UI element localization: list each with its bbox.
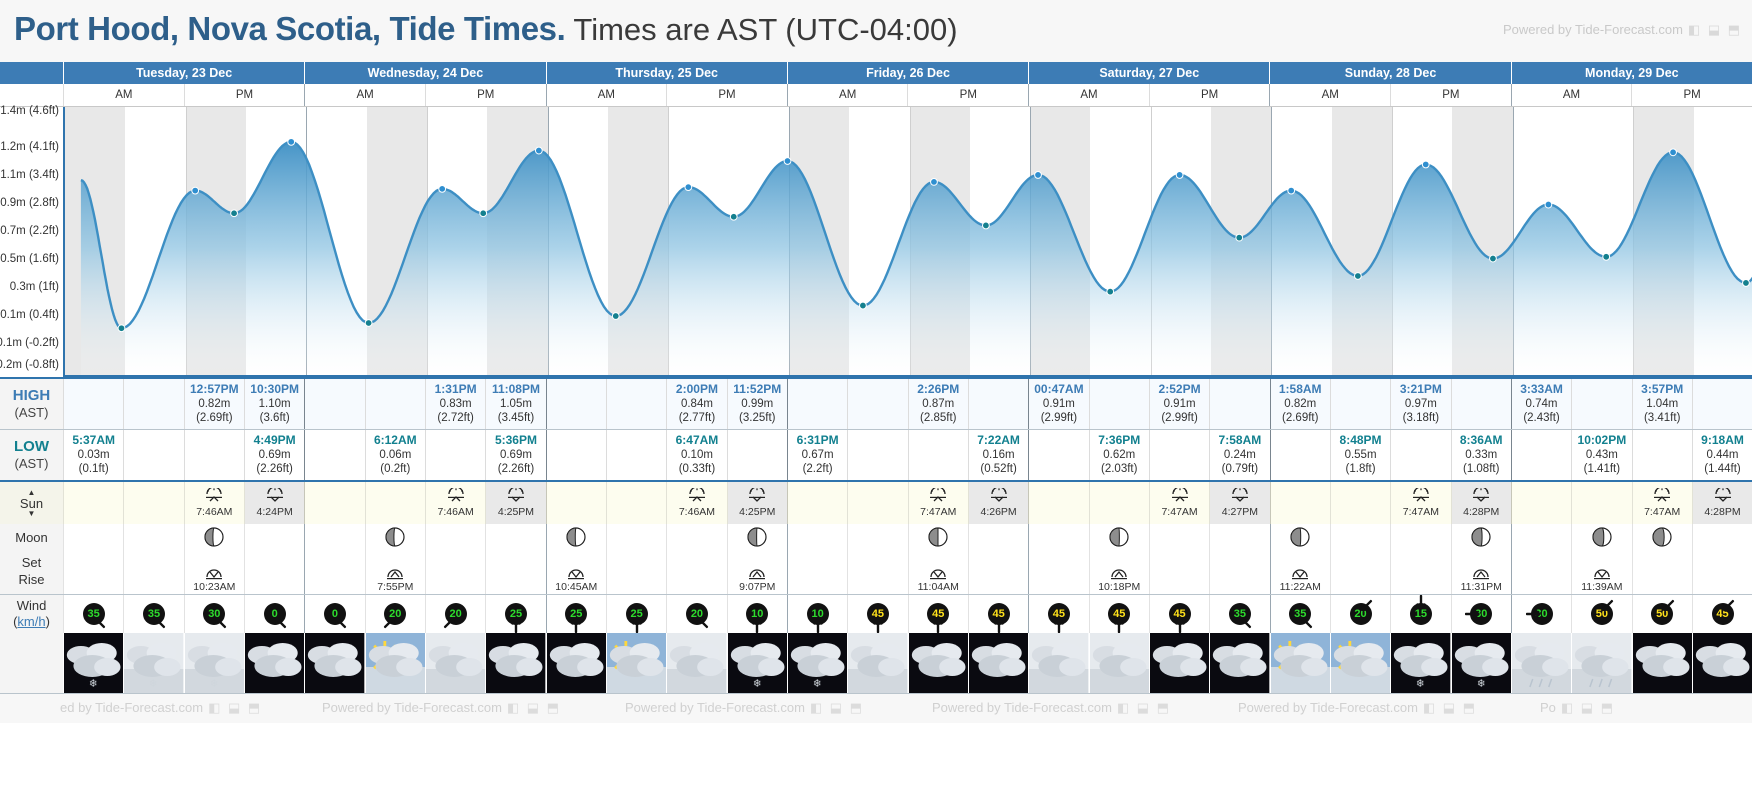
weather-icon-cell-9[interactable] xyxy=(606,633,666,693)
tide-extreme-point-low-12[interactable] xyxy=(860,302,867,309)
ampm-header-row: AMPMAMPMAMPMAMPMAMPMAMPMAMPM xyxy=(0,84,1752,107)
wind-cell-5[interactable]: 20 xyxy=(365,595,425,633)
high-tide-time: 1:58AM xyxy=(1271,382,1330,397)
low-tide-cell-23[interactable]: 8:36AM0.33m(1.08ft) xyxy=(1451,430,1511,480)
sun-rise-time: 7:47AM xyxy=(1644,506,1680,518)
high-tide-cell-16[interactable]: 00:47AM0.91m(2.99ft) xyxy=(1028,379,1088,429)
tide-extreme-point-high-23[interactable] xyxy=(1545,201,1552,208)
moon-setrise-cell-19 xyxy=(1209,550,1269,594)
moon-cell-5[interactable] xyxy=(365,524,425,550)
moon-cell-27 xyxy=(1692,524,1752,550)
low-tide-cell-14 xyxy=(908,430,968,480)
moon-cell-16 xyxy=(1028,524,1088,550)
weather-icon-cell-1[interactable]: ❄ xyxy=(123,633,183,693)
sun-cell-3[interactable]: 4:24PM xyxy=(244,482,304,524)
high-tide-unit: (AST) xyxy=(15,405,49,421)
high-tide-feet: (3.6ft) xyxy=(245,411,304,425)
high-tide-cell-27 xyxy=(1692,379,1752,429)
tide-sheet: Tuesday, 23 DecWednesday, 24 DecThursday… xyxy=(0,62,1752,723)
moon-phase-icon xyxy=(1109,527,1129,547)
tide-extreme-point-high-9[interactable] xyxy=(685,184,692,191)
high-tide-cell-22[interactable]: 3:21PM0.97m(3.18ft) xyxy=(1390,379,1450,429)
moon-rise-time: 10:18PM xyxy=(1098,581,1140,593)
high-tide-cell-17 xyxy=(1089,379,1149,429)
high-tide-cell-26[interactable]: 3:57PM1.04m(3.41ft) xyxy=(1632,379,1692,429)
sun-rise-icon xyxy=(1652,488,1672,506)
tide-extreme-point-high-5[interactable] xyxy=(439,185,446,192)
low-tide-time: 4:49PM xyxy=(245,433,304,448)
low-tide-cell-10[interactable]: 6:47AM0.10m(0.33ft) xyxy=(666,430,726,480)
wind-cell-17[interactable]: 45 xyxy=(1089,595,1149,633)
wind-cell-23[interactable]: 30 xyxy=(1451,595,1511,633)
high-tide-cell-7[interactable]: 11:08PM1.05m(3.45ft) xyxy=(485,379,545,429)
tide-extreme-point-low-4[interactable] xyxy=(365,320,372,327)
weather-icon-cell-25[interactable] xyxy=(1571,633,1631,693)
wind-cell-25[interactable]: 50 xyxy=(1571,595,1631,633)
weather-icon-cell-5[interactable] xyxy=(365,633,425,693)
low-tide-cell-6 xyxy=(425,430,485,480)
footer-marks-icon: ◧ ⬓ ⬒ xyxy=(1117,700,1171,715)
low-tide-label: LOW (AST) xyxy=(0,430,63,480)
low-tide-cell-7[interactable]: 5:36PM0.69m(2.26ft) xyxy=(485,430,545,480)
tide-extreme-point-low-0[interactable] xyxy=(118,325,125,332)
wind-cell-9[interactable]: 25 xyxy=(606,595,666,633)
tide-extreme-point-high-7[interactable] xyxy=(535,147,542,154)
low-tide-cell-20 xyxy=(1270,430,1330,480)
sun-cell-26[interactable]: 7:47AM xyxy=(1632,482,1692,524)
moon-cell-22 xyxy=(1390,524,1450,550)
tide-extreme-point-low-2[interactable] xyxy=(231,210,238,217)
moon-cell-26[interactable] xyxy=(1632,524,1692,550)
wind-direction-arrow-icon xyxy=(1526,606,1542,622)
high-tide-feet: (2.99ft) xyxy=(1150,411,1209,425)
sun-label-text: Sun xyxy=(20,497,43,510)
weather-icon-cell-11[interactable]: ❄ xyxy=(727,633,787,693)
wind-cell-15[interactable]: 45 xyxy=(968,595,1028,633)
low-tide-meters: 0.69m xyxy=(245,448,304,462)
wind-cell-0[interactable]: 35 xyxy=(63,595,123,633)
weather-icon-cell-17[interactable] xyxy=(1089,633,1149,693)
weather-icon-cell-21[interactable] xyxy=(1330,633,1390,693)
day-header-6[interactable]: Monday, 29 Dec xyxy=(1511,62,1752,84)
high-tide-cell-23 xyxy=(1451,379,1511,429)
low-tide-feet: (1.44ft) xyxy=(1693,462,1752,476)
moon-setrise-cell-11[interactable]: 9:07PM xyxy=(727,550,787,594)
high-tide-cell-14[interactable]: 2:26PM0.87m(2.85ft) xyxy=(908,379,968,429)
wind-cell-14[interactable]: 45 xyxy=(908,595,968,633)
moon-setrise-cell-16 xyxy=(1028,550,1088,594)
low-tide-cell-2 xyxy=(184,430,244,480)
low-tide-cell-15[interactable]: 7:22AM0.16m(0.52ft) xyxy=(968,430,1028,480)
moon-set-icon xyxy=(204,566,224,581)
wind-cell-21[interactable]: 20 xyxy=(1330,595,1390,633)
sun-cell-27[interactable]: 4:28PM xyxy=(1692,482,1752,524)
high-tide-meters: 0.82m xyxy=(1271,397,1330,411)
high-tide-cell-24[interactable]: 3:33AM0.74m(2.43ft) xyxy=(1511,379,1571,429)
weather-icon-cell-3[interactable] xyxy=(244,633,304,693)
sun-cell-4 xyxy=(304,482,364,524)
wind-cell-27[interactable]: 45 xyxy=(1692,595,1752,633)
moon-setrise-cell-13 xyxy=(847,550,907,594)
wind-direction-arrow-icon xyxy=(991,617,1007,633)
high-tide-cell-6[interactable]: 1:31PM0.83m(2.72ft) xyxy=(425,379,485,429)
footer-marks-icon: ◧ ⬓ ⬒ xyxy=(1561,700,1615,715)
moon-setrise-cell-23[interactable]: 11:31PM xyxy=(1451,550,1511,594)
tide-extreme-point-low-18[interactable] xyxy=(1236,234,1243,241)
day-header-0[interactable]: Tuesday, 23 Dec xyxy=(63,62,304,84)
day-header-5[interactable]: Sunday, 28 Dec xyxy=(1269,62,1510,84)
ampm-header-4: AM xyxy=(546,84,667,106)
sun-cell-22[interactable]: 7:47AM xyxy=(1390,482,1450,524)
low-tide-cell-5[interactable]: 6:12AM0.06m(0.2ft) xyxy=(365,430,425,480)
day-header-3[interactable]: Friday, 26 Dec xyxy=(787,62,1028,84)
weather-cloudy-snow-icon: ❄ xyxy=(185,633,244,693)
low-tide-cell-25[interactable]: 10:02PM0.43m(1.41ft) xyxy=(1571,430,1631,480)
weather-icon-cell-26[interactable] xyxy=(1632,633,1692,693)
low-tide-meters: 0.55m xyxy=(1331,448,1390,462)
high-tide-time: 1:31PM xyxy=(426,382,485,397)
footer-watermark-4: Powered by Tide-Forecast.com◧ ⬓ ⬒ xyxy=(1238,700,1477,716)
footer-marks-icon: ◧ ⬓ ⬒ xyxy=(810,700,864,715)
tide-extreme-point-low-6[interactable] xyxy=(480,210,487,217)
wind-unit: (km/h) xyxy=(13,614,50,630)
weather-cloudy-icon xyxy=(909,633,968,693)
weather-cloudy-snow-icon: ❄ xyxy=(124,633,183,693)
sun-cell-1 xyxy=(123,482,183,524)
weather-cloudy-rain-icon xyxy=(1572,633,1631,693)
high-tide-cell-1 xyxy=(123,379,183,429)
moon-setrise-cell-5[interactable]: 7:55PM xyxy=(365,550,425,594)
wind-cell-12[interactable]: 10 xyxy=(787,595,847,633)
moon-cell-17[interactable] xyxy=(1089,524,1149,550)
high-tide-cell-10[interactable]: 2:00PM0.84m(2.77ft) xyxy=(666,379,726,429)
low-tide-feet: (1.8ft) xyxy=(1331,462,1390,476)
tide-extreme-point-low-10[interactable] xyxy=(730,213,737,220)
low-tide-feet: (2.26ft) xyxy=(486,462,545,476)
high-tide-feet: (2.72ft) xyxy=(426,411,485,425)
high-tide-time: 11:08PM xyxy=(486,382,545,397)
weather-icon-cell-23[interactable]: ❄ xyxy=(1451,633,1511,693)
weather-partly-icon xyxy=(1271,633,1330,693)
tide-extreme-point-low-20[interactable] xyxy=(1354,273,1361,280)
moon-cell-11[interactable] xyxy=(727,524,787,550)
high-tide-feet: (2.69ft) xyxy=(185,411,244,425)
weather-icon-cell-8[interactable] xyxy=(546,633,606,693)
page-header: Port Hood, Nova Scotia, Tide Times.Times… xyxy=(0,0,1752,62)
moon-rise-icon xyxy=(1109,566,1129,581)
tide-extreme-point-low-16[interactable] xyxy=(1107,288,1114,295)
sun-cell-11[interactable]: 4:25PM xyxy=(727,482,787,524)
sun-cell-6[interactable]: 7:46AM xyxy=(425,482,485,524)
weather-icon-cell-6[interactable] xyxy=(425,633,485,693)
high-tide-feet: (3.41ft) xyxy=(1633,411,1692,425)
low-tide-feet: (2.26ft) xyxy=(245,462,304,476)
chart-y-axis: 1.4m (4.6ft)1.2m (4.1ft)1.1m (3.4ft)0.9m… xyxy=(0,107,63,377)
high-tide-cell-2[interactable]: 12:57PM0.82m(2.69ft) xyxy=(184,379,244,429)
tide-extreme-point-high-15[interactable] xyxy=(1035,172,1042,179)
wind-cell-16[interactable]: 45 xyxy=(1028,595,1088,633)
moon-cell-12 xyxy=(787,524,847,550)
weather-icon-cell-2[interactable]: ❄ xyxy=(184,633,244,693)
low-tide-cell-21[interactable]: 8:48PM0.55m(1.8ft) xyxy=(1330,430,1390,480)
high-tide-meters: 0.82m xyxy=(185,397,244,411)
low-tide-time: 9:18AM xyxy=(1693,433,1752,448)
low-tide-cell-3[interactable]: 4:49PM0.69m(2.26ft) xyxy=(244,430,304,480)
sun-cell-8 xyxy=(546,482,606,524)
tide-extreme-point-high-17[interactable] xyxy=(1176,172,1183,179)
low-tide-time: 8:48PM xyxy=(1331,433,1390,448)
weather-icon-cell-27[interactable] xyxy=(1692,633,1752,693)
weather-cloudy-icon xyxy=(667,633,726,693)
low-tide-feet: (2.03ft) xyxy=(1090,462,1149,476)
moon-rise-time: 7:55PM xyxy=(377,581,413,593)
weather-icon-cell-18[interactable] xyxy=(1149,633,1209,693)
tide-extreme-point-high-25[interactable] xyxy=(1670,149,1677,156)
wind-direction-arrow-icon xyxy=(870,617,886,633)
wind-cell-8[interactable]: 25 xyxy=(546,595,606,633)
moon-cell-3 xyxy=(244,524,304,550)
sun-rise-time: 7:46AM xyxy=(679,506,715,518)
sun-set-time: 4:25PM xyxy=(498,506,534,518)
moon-setrise-cell-8[interactable]: 10:45AM xyxy=(546,550,606,594)
day-header-row: Tuesday, 23 DecWednesday, 24 DecThursday… xyxy=(0,62,1752,84)
wind-direction-arrow-icon xyxy=(629,617,645,633)
low-tide-cell-0[interactable]: 5:37AM0.03m(0.1ft) xyxy=(63,430,123,480)
page-subtitle: Times are AST (UTC-04:00) xyxy=(573,12,957,48)
high-tide-meters: 0.99m xyxy=(728,397,787,411)
tide-extreme-point-high-11[interactable] xyxy=(784,158,791,165)
low-tide-time: 7:22AM xyxy=(969,433,1028,448)
moon-cell-2[interactable] xyxy=(184,524,244,550)
low-tide-cell-19[interactable]: 7:58AM0.24m(0.79ft) xyxy=(1209,430,1269,480)
moon-set-time: 11:22AM xyxy=(1280,581,1321,593)
wind-direction-arrow-icon xyxy=(1660,598,1676,614)
sun-rise-time: 7:46AM xyxy=(196,506,232,518)
svg-text:❄: ❄ xyxy=(1476,678,1485,690)
wind-direction-arrow-icon xyxy=(749,617,765,633)
high-tide-feet: (2.69ft) xyxy=(1271,411,1330,425)
wind-cell-2[interactable]: 30 xyxy=(184,595,244,633)
moon-cell-23[interactable] xyxy=(1451,524,1511,550)
moon-cell-8[interactable] xyxy=(546,524,606,550)
low-tide-cell-12[interactable]: 6:31PM0.67m(2.2ft) xyxy=(787,430,847,480)
wind-unit-link[interactable]: km/h xyxy=(17,614,45,629)
footer-watermark-3: Powered by Tide-Forecast.com◧ ⬓ ⬒ xyxy=(932,700,1171,716)
high-tide-meters: 0.87m xyxy=(909,397,968,411)
moon-cell-13 xyxy=(847,524,907,550)
wind-cell-10[interactable]: 20 xyxy=(666,595,726,633)
weather-icon-cell-13[interactable] xyxy=(847,633,907,693)
low-tide-cell-17[interactable]: 7:36PM0.62m(2.03ft) xyxy=(1089,430,1149,480)
day-header-4[interactable]: Saturday, 27 Dec xyxy=(1028,62,1269,84)
weather-icon-cell-19[interactable] xyxy=(1209,633,1269,693)
moon-label: Moon xyxy=(0,524,63,550)
tide-extreme-point-high-21[interactable] xyxy=(1422,161,1429,168)
high-tide-meters: 1.04m xyxy=(1633,397,1692,411)
footer-watermark-5: Po◧ ⬓ ⬒ xyxy=(1540,700,1615,716)
weather-icon-cell-22[interactable]: ❄ xyxy=(1390,633,1450,693)
weather-cloudy-icon xyxy=(1090,633,1149,693)
sun-set-time: 4:25PM xyxy=(739,506,775,518)
wind-direction-arrow-icon xyxy=(212,614,228,630)
moon-setrise-cell-14[interactable]: 11:04AM xyxy=(908,550,968,594)
day-header-2[interactable]: Thursday, 25 Dec xyxy=(546,62,787,84)
svg-text:❄: ❄ xyxy=(752,678,761,690)
tide-extreme-point-low-14[interactable] xyxy=(983,222,990,229)
page-title: Port Hood, Nova Scotia, Tide Times. xyxy=(14,10,565,48)
wind-cell-6[interactable]: 20 xyxy=(425,595,485,633)
wind-direction-arrow-icon xyxy=(930,617,946,633)
weather-icon-cell-7[interactable] xyxy=(485,633,545,693)
moon-cell-25[interactable] xyxy=(1571,524,1631,550)
moon-rise-time: 11:31PM xyxy=(1461,581,1502,593)
tide-extreme-point-high-13[interactable] xyxy=(931,179,938,186)
weather-icon-cell-20[interactable] xyxy=(1270,633,1330,693)
weather-icon-cell-0[interactable]: ❄ xyxy=(63,633,123,693)
svg-text:❄: ❄ xyxy=(149,678,158,690)
moon-setrise-cell-0 xyxy=(63,550,123,594)
y-axis-tick-8: -0.1m (-0.2ft) xyxy=(0,337,59,349)
moon-rise-label: Rise xyxy=(18,572,44,589)
footer-watermark-2: Powered by Tide-Forecast.com◧ ⬓ ⬒ xyxy=(625,700,864,716)
tide-extreme-point-low-22[interactable] xyxy=(1490,255,1497,262)
wind-cell-22[interactable]: 15 xyxy=(1390,595,1450,633)
wind-cell-24[interactable]: 30 xyxy=(1511,595,1571,633)
high-tide-cell-15 xyxy=(968,379,1028,429)
sun-cell-15[interactable]: 4:26PM xyxy=(968,482,1028,524)
wind-direction-arrow-icon xyxy=(151,614,167,630)
weather-icon-cell-24[interactable] xyxy=(1511,633,1571,693)
sun-cell-2[interactable]: 7:46AM xyxy=(184,482,244,524)
wind-cell-13[interactable]: 45 xyxy=(847,595,907,633)
high-tide-time: 00:47AM xyxy=(1029,382,1088,397)
ampm-header-3: PM xyxy=(425,84,546,106)
weather-icon-cell-14[interactable] xyxy=(908,633,968,693)
tide-extreme-point-high-1[interactable] xyxy=(192,187,199,194)
weather-icon-cell-15[interactable] xyxy=(968,633,1028,693)
moon-setrise-cell-2[interactable]: 10:23AM xyxy=(184,550,244,594)
wind-cell-26[interactable]: 50 xyxy=(1632,595,1692,633)
sun-set-time: 4:26PM xyxy=(980,506,1016,518)
moon-setrise-cell-20[interactable]: 11:22AM xyxy=(1270,550,1330,594)
tide-extreme-point-low-26[interactable] xyxy=(1743,280,1750,287)
sun-cell-25 xyxy=(1571,482,1631,524)
high-tide-meters: 0.84m xyxy=(667,397,726,411)
wind-cell-7[interactable]: 25 xyxy=(485,595,545,633)
moon-setrise-cell-7 xyxy=(485,550,545,594)
moon-setrise-cell-3 xyxy=(244,550,304,594)
low-tide-cell-11 xyxy=(727,430,787,480)
low-tide-unit: (AST) xyxy=(15,456,49,472)
sun-cell-23[interactable]: 4:28PM xyxy=(1451,482,1511,524)
sun-cell-18[interactable]: 7:47AM xyxy=(1149,482,1209,524)
sun-rise-icon xyxy=(1411,488,1431,506)
tide-extreme-point-high-19[interactable] xyxy=(1288,187,1295,194)
wind-direction-arrow-icon xyxy=(1111,617,1127,633)
wind-cell-20[interactable]: 35 xyxy=(1270,595,1330,633)
high-tide-cell-20[interactable]: 1:58AM0.82m(2.69ft) xyxy=(1270,379,1330,429)
high-tide-meters: 1.05m xyxy=(486,397,545,411)
low-tide-cell-18 xyxy=(1149,430,1209,480)
day-header-1[interactable]: Wednesday, 24 Dec xyxy=(304,62,545,84)
weather-icon-cell-10[interactable] xyxy=(666,633,726,693)
sun-cell-14[interactable]: 7:47AM xyxy=(908,482,968,524)
ampm-header-corner xyxy=(0,84,63,106)
low-tide-meters: 0.67m xyxy=(788,448,847,462)
moon-setrise-cell-25[interactable]: 11:39AM xyxy=(1571,550,1631,594)
sun-set-icon xyxy=(747,488,767,506)
wind-cell-11[interactable]: 10 xyxy=(727,595,787,633)
wind-cell-4[interactable]: 0 xyxy=(304,595,364,633)
wind-cell-18[interactable]: 45 xyxy=(1149,595,1209,633)
weather-icon-cell-4[interactable] xyxy=(304,633,364,693)
low-tide-cell-16 xyxy=(1028,430,1088,480)
low-tide-cell-24 xyxy=(1511,430,1571,480)
moon-setrise-cell-10 xyxy=(666,550,726,594)
tide-curve-plot[interactable] xyxy=(63,107,1752,377)
weather-icon-cell-12[interactable]: ❄ xyxy=(787,633,847,693)
high-tide-cell-5 xyxy=(365,379,425,429)
high-tide-meters: 1.10m xyxy=(245,397,304,411)
sun-cell-7[interactable]: 4:25PM xyxy=(485,482,545,524)
high-tide-meters: 0.74m xyxy=(1512,397,1571,411)
moon-setrise-label: Set Rise xyxy=(0,550,63,594)
sun-cell-16 xyxy=(1028,482,1088,524)
tide-extreme-point-low-8[interactable] xyxy=(612,313,619,320)
wind-row: Wind (km/h) 3535300020202525252010104545… xyxy=(0,595,1752,633)
moon-cell-20[interactable] xyxy=(1270,524,1330,550)
wind-cell-3[interactable]: 0 xyxy=(244,595,304,633)
moon-setrise-cell-17[interactable]: 10:18PM xyxy=(1089,550,1149,594)
sun-cell-10[interactable]: 7:46AM xyxy=(666,482,726,524)
moon-cell-15 xyxy=(968,524,1028,550)
tide-curve-svg xyxy=(65,107,1752,377)
wind-direction-arrow-icon xyxy=(1465,606,1481,622)
low-tide-meters: 0.06m xyxy=(366,448,425,462)
low-tide-cell-27[interactable]: 9:18AM0.44m(1.44ft) xyxy=(1692,430,1752,480)
high-tide-cell-0 xyxy=(63,379,123,429)
sun-cell-19[interactable]: 4:27PM xyxy=(1209,482,1269,524)
high-tide-cell-9 xyxy=(606,379,666,429)
high-tide-feet: (2.99ft) xyxy=(1029,411,1088,425)
wind-cell-1[interactable]: 35 xyxy=(123,595,183,633)
tide-area-fill xyxy=(81,142,1752,377)
wind-direction-arrow-icon xyxy=(1298,614,1314,630)
weather-icon-cell-16[interactable] xyxy=(1028,633,1088,693)
wind-cell-19[interactable]: 35 xyxy=(1209,595,1269,633)
low-tide-meters: 0.10m xyxy=(667,448,726,462)
moon-row: Moon xyxy=(0,524,1752,550)
high-tide-cell-3[interactable]: 10:30PM1.10m(3.6ft) xyxy=(244,379,304,429)
tide-extreme-point-high-3[interactable] xyxy=(288,138,295,145)
high-tide-cell-18[interactable]: 2:52PM0.91m(2.99ft) xyxy=(1149,379,1209,429)
moon-setrise-cell-21 xyxy=(1330,550,1390,594)
moon-cell-9 xyxy=(606,524,666,550)
low-tide-meters: 0.03m xyxy=(64,448,123,462)
wind-direction-arrow-icon xyxy=(1358,598,1374,614)
low-tide-time: 7:36PM xyxy=(1090,433,1149,448)
sun-cell-12 xyxy=(787,482,847,524)
high-tide-time: 3:33AM xyxy=(1512,382,1571,397)
moon-rise-time: 9:07PM xyxy=(739,581,775,593)
high-tide-cell-11[interactable]: 11:52PM0.99m(3.25ft) xyxy=(727,379,787,429)
sun-cell-13 xyxy=(847,482,907,524)
wind-direction-arrow-icon xyxy=(442,614,458,630)
moon-cell-14[interactable] xyxy=(908,524,968,550)
high-tide-cell-21 xyxy=(1330,379,1390,429)
tide-extreme-point-low-24[interactable] xyxy=(1603,253,1610,260)
sun-set-time: 4:28PM xyxy=(1463,506,1499,518)
